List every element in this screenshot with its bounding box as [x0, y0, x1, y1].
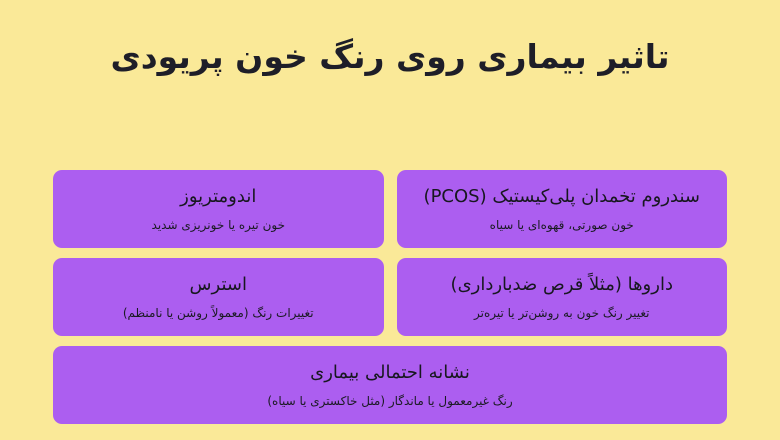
card-stress[interactable]: استرس تغییرات رنگ (معمولاً روشن یا نامنظ… — [53, 258, 384, 336]
card-title: داروها (مثلاً قرص ضدبارداری) — [451, 273, 673, 297]
card-row-3: نشانه احتمالی بیماری رنگ غیرمعمول یا مان… — [53, 346, 727, 424]
card-row-1: سندروم تخمدان پلی‌کیستیک (PCOS) خون صورت… — [53, 170, 727, 248]
card-subtitle: تغییر رنگ خون به روشن‌تر یا تیره‌تر — [474, 305, 650, 321]
card-subtitle: خون تیره یا خونریزی شدید — [152, 217, 285, 233]
card-endometriosis[interactable]: اندومتریوز خون تیره یا خونریزی شدید — [53, 170, 384, 248]
page-title: تاثیر بیماری روی رنگ خون پریودی — [0, 36, 780, 78]
cards-container: سندروم تخمدان پلی‌کیستیک (PCOS) خون صورت… — [53, 170, 727, 424]
card-pcos[interactable]: سندروم تخمدان پلی‌کیستیک (PCOS) خون صورت… — [397, 170, 728, 248]
card-title: اندومتریوز — [180, 185, 256, 209]
slide-canvas: تاثیر بیماری روی رنگ خون پریودی سندروم ت… — [0, 0, 780, 440]
card-subtitle: خون صورتی، قهوه‌ای یا سیاه — [490, 217, 634, 233]
card-possible-disease-sign[interactable]: نشانه احتمالی بیماری رنگ غیرمعمول یا مان… — [53, 346, 727, 424]
card-subtitle: رنگ غیرمعمول یا ماندگار (مثل خاکستری یا … — [267, 393, 512, 409]
card-title: سندروم تخمدان پلی‌کیستیک (PCOS) — [424, 185, 700, 209]
card-title: نشانه احتمالی بیماری — [310, 361, 470, 385]
card-title: استرس — [190, 273, 247, 297]
card-medications[interactable]: داروها (مثلاً قرص ضدبارداری) تغییر رنگ خ… — [397, 258, 728, 336]
card-subtitle: تغییرات رنگ (معمولاً روشن یا نامنظم) — [123, 305, 314, 321]
card-row-2: داروها (مثلاً قرص ضدبارداری) تغییر رنگ خ… — [53, 258, 727, 336]
